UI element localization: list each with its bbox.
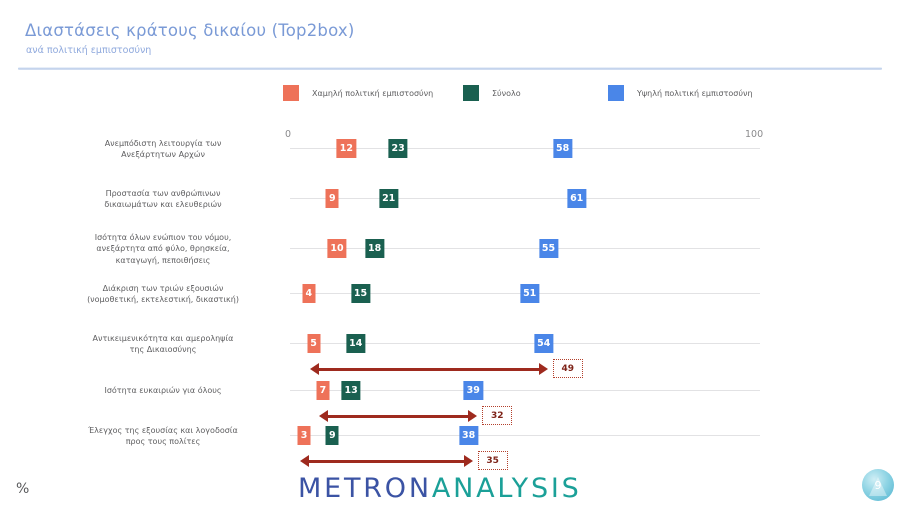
gap-arrow-line	[308, 460, 465, 463]
row-gridline	[290, 248, 760, 249]
data-marker-high: 39	[464, 381, 483, 400]
gap-value-box: 49	[553, 359, 583, 378]
gap-arrow-line	[318, 368, 540, 371]
gap-annotation: 32	[0, 406, 900, 426]
row-category-label: Ανεμπόδιστη λειτουργία τωνΑνεξάρτητων Αρ…	[63, 138, 263, 161]
legend-swatch-total	[463, 85, 479, 101]
header-divider	[18, 67, 882, 70]
row-category-label: Έλεγχος της εξουσίας και λογοδοσίαπρος τ…	[63, 425, 263, 448]
data-marker-low: 10	[327, 239, 346, 258]
data-marker-low: 5	[307, 334, 320, 353]
gap-value-box: 35	[478, 451, 508, 470]
data-marker-total: 14	[346, 334, 365, 353]
gap-annotation: 49	[0, 359, 900, 379]
data-marker-total: 18	[365, 239, 384, 258]
data-marker-total: 9	[326, 426, 339, 445]
chart-plot-area: 0 100 Ανεμπόδιστη λειτουργία τωνΑνεξάρτη…	[0, 120, 900, 470]
arrow-head-left-icon	[319, 410, 328, 422]
data-marker-total: 13	[341, 381, 360, 400]
legend-swatch-high-trust	[608, 85, 624, 101]
data-marker-low: 3	[298, 426, 311, 445]
row-gridline	[290, 148, 760, 149]
gap-annotation: 35	[0, 451, 900, 471]
data-marker-total: 23	[388, 139, 407, 158]
page-title: Διαστάσεις κράτους δικαίου (Top2box)	[25, 21, 354, 40]
percent-unit-label: %	[16, 481, 29, 497]
axis-tick-min: 0	[285, 129, 291, 140]
data-marker-low: 7	[316, 381, 329, 400]
data-marker-low: 9	[326, 189, 339, 208]
arrow-head-left-icon	[310, 363, 319, 375]
legend-item-total[interactable]: Σύνολο	[463, 85, 521, 101]
data-marker-high: 51	[520, 284, 539, 303]
data-marker-high: 54	[534, 334, 553, 353]
chart-legend: Χαμηλή πολιτική εμπιστοσύνη Σύνολο Υψηλή…	[283, 85, 803, 107]
data-marker-low: 4	[302, 284, 315, 303]
data-marker-high: 38	[459, 426, 478, 445]
data-marker-high: 55	[539, 239, 558, 258]
data-marker-total: 21	[379, 189, 398, 208]
axis-tick-max: 100	[745, 129, 763, 140]
legend-label-high-trust: Υψηλή πολιτική εμπιστοσύνη	[637, 89, 753, 98]
legend-swatch-low-trust	[283, 85, 299, 101]
logo-text-analysis: ANALYSIS	[432, 473, 582, 504]
page-number-badge: 9	[862, 469, 894, 501]
data-marker-total: 15	[351, 284, 370, 303]
row-category-label: Προστασία των ανθρώπινωνδικαιωμάτων και …	[63, 188, 263, 211]
gap-value-box: 32	[482, 406, 512, 425]
logo-text-metron: METRON	[298, 473, 432, 504]
slide-header: Διαστάσεις κράτους δικαίου (Top2box) ανά…	[0, 0, 900, 70]
legend-label-low-trust: Χαμηλή πολιτική εμπιστοσύνη	[312, 89, 433, 98]
legend-label-total: Σύνολο	[492, 89, 521, 98]
legend-item-low-trust[interactable]: Χαμηλή πολιτική εμπιστοσύνη	[283, 85, 433, 101]
arrow-head-right-icon	[539, 363, 548, 375]
row-category-label: Αντικειμενικότητα και αμεροληψίατης Δικα…	[63, 333, 263, 356]
arrow-head-right-icon	[468, 410, 477, 422]
arrow-head-right-icon	[464, 455, 473, 467]
gap-arrow-line	[327, 415, 469, 418]
row-gridline	[290, 435, 760, 436]
page-number-text: 9	[862, 469, 894, 501]
data-marker-low: 12	[337, 139, 356, 158]
row-category-label: Διάκριση των τριών εξουσιών(νομοθετική, …	[63, 283, 263, 306]
row-category-label: Ισότητα ευκαιριών για όλους	[63, 385, 263, 397]
metron-analysis-logo: METRONANALYSIS	[298, 473, 582, 504]
legend-item-high-trust[interactable]: Υψηλή πολιτική εμπιστοσύνη	[608, 85, 753, 101]
row-category-label: Ισότητα όλων ενώπιον του νόμου,ανεξάρτητ…	[63, 232, 263, 267]
data-marker-high: 58	[553, 139, 572, 158]
row-gridline	[290, 198, 760, 199]
data-marker-high: 61	[567, 189, 586, 208]
page-subtitle: ανά πολιτική εμπιστοσύνη	[26, 45, 151, 56]
arrow-head-left-icon	[300, 455, 309, 467]
